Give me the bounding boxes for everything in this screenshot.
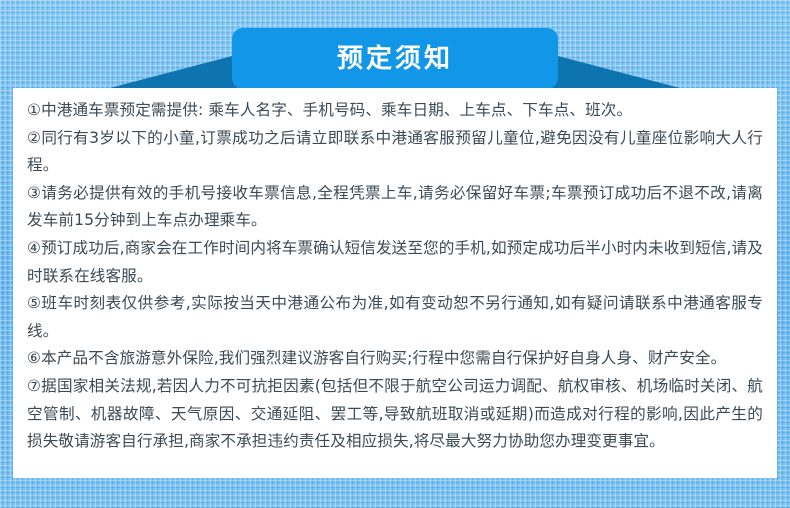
ribbon-banner: 预定须知 (0, 0, 790, 90)
banner-pill: 预定须知 (232, 28, 558, 89)
notice-item-1: ①中港通车票预定需提供: 乘车人名字、手机号码、乘车日期、上车点、下车点、班次。 (27, 97, 763, 125)
notice-item-7: ⑦据国家相关法规,若因人力不可抗拒因素(包括但不限于航空公司运力调配、航权审核、… (27, 373, 763, 456)
notice-item-3: ③请务必提供有效的手机号接收车票信息,全程凭票上车,请务必保留好车票;车票预订成… (27, 180, 763, 235)
notice-item-5: ⑤班车时刻表仅供参考,实际按当天中港通公布为准,如有变动恕不另行通知,如有疑问请… (27, 290, 763, 345)
notice-list: ①中港通车票预定需提供: 乘车人名字、手机号码、乘车日期、上车点、下车点、班次。… (27, 97, 763, 456)
page-title: 预定须知 (337, 46, 453, 72)
notice-panel: 预定须知 ①中港通车票预定需提供: 乘车人名字、手机号码、乘车日期、上车点、下车… (0, 0, 790, 508)
notice-content-card: ①中港通车票预定需提供: 乘车人名字、手机号码、乘车日期、上车点、下车点、班次。… (13, 88, 777, 478)
notice-item-4: ④预订成功后,商家会在工作时间内将车票确认短信发送至您的手机,如预定成功后半小时… (27, 235, 763, 290)
notice-item-6: ⑥本产品不含旅游意外保险,我们强烈建议游客自行购买;行程中您需自行保护好自身人身… (27, 345, 763, 373)
notice-item-2: ②同行有3岁以下的小童,订票成功之后请立即联系中港通客服预留儿童位,避免因没有儿… (27, 125, 763, 180)
